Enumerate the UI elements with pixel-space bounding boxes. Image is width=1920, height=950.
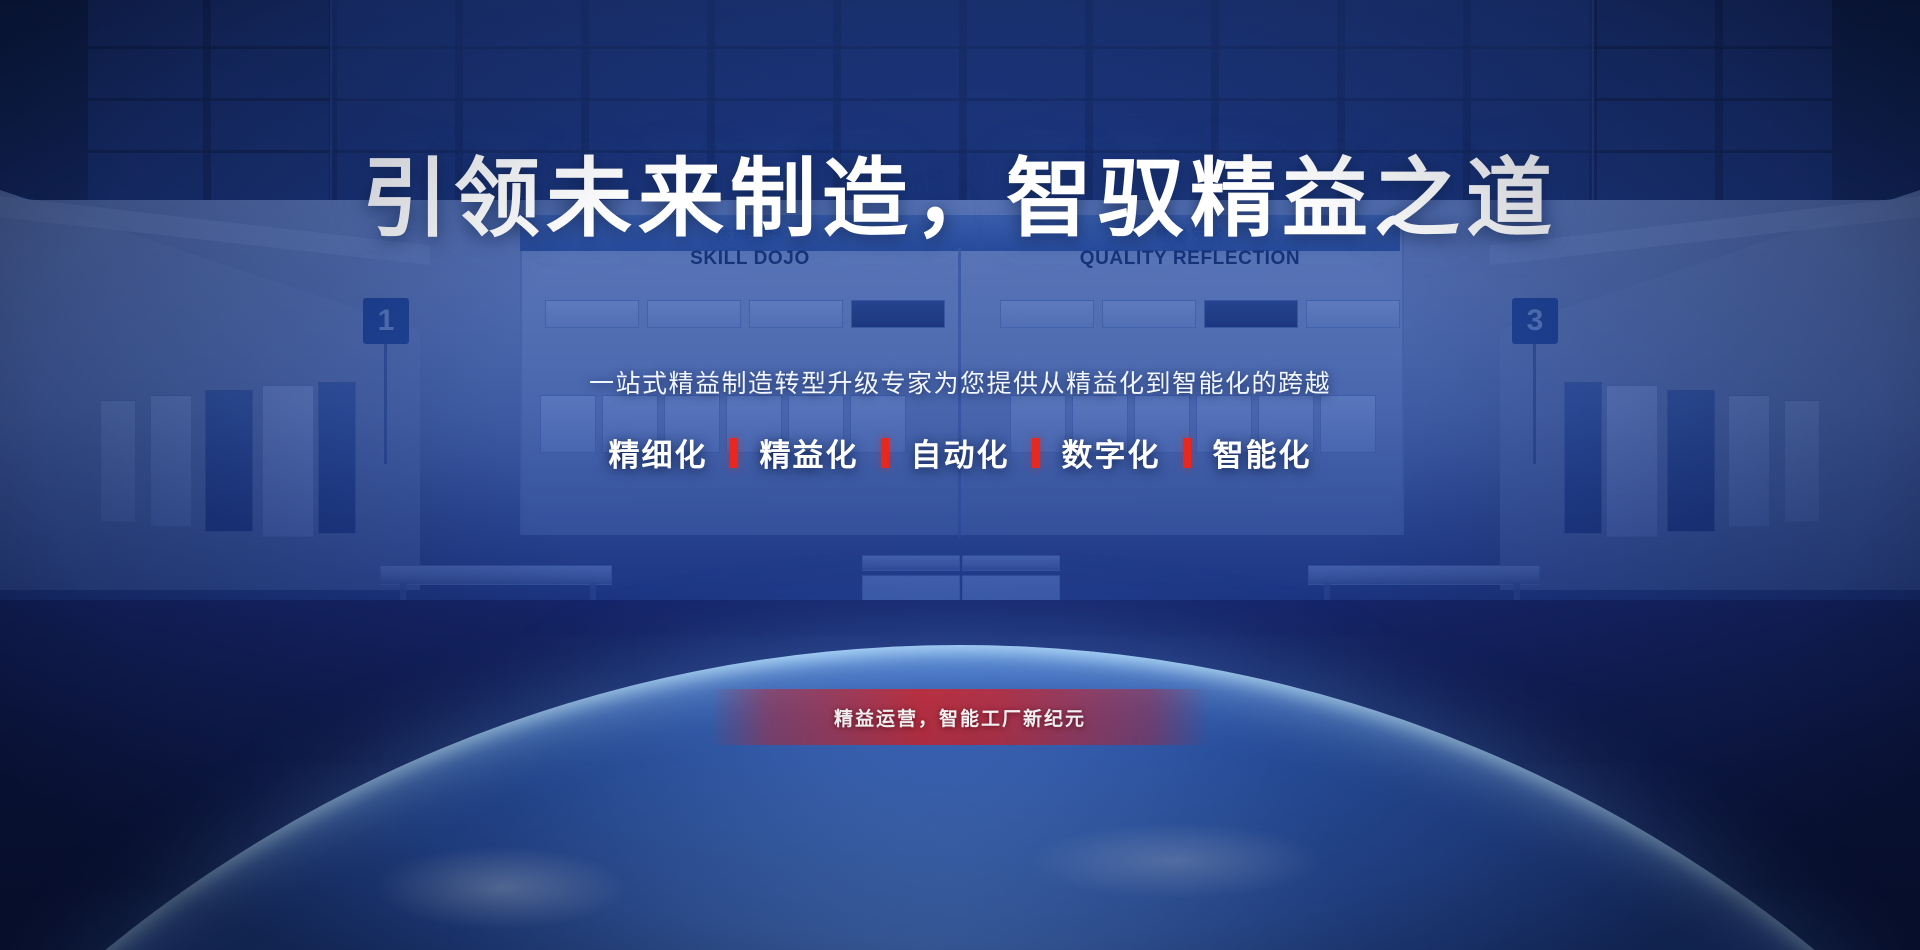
hero-subtitle: 一站式精益制造转型升级专家为您提供从精益化到智能化的跨越 bbox=[0, 364, 1920, 400]
keyword-item: 自动化 bbox=[911, 430, 1010, 475]
keyword-item: 智能化 bbox=[1213, 430, 1312, 475]
blue-tint-overlay-2 bbox=[0, 0, 1920, 660]
page-title: 引领未来制造，智驭精益之道 bbox=[0, 128, 1920, 253]
tagline-ribbon: 精益运营，智能工厂新纪元 bbox=[710, 689, 1210, 745]
keyword-separator-icon bbox=[1032, 438, 1040, 468]
keyword-separator-icon bbox=[730, 438, 738, 468]
keyword-list: 精细化 精益化 自动化 数字化 智能化 bbox=[0, 430, 1920, 475]
keyword-separator-icon bbox=[1183, 438, 1191, 468]
keyword-item: 数字化 bbox=[1062, 430, 1161, 475]
tagline-text: 精益运营，智能工厂新纪元 bbox=[834, 704, 1086, 731]
keyword-separator-icon bbox=[881, 438, 889, 468]
hero-banner: 技能道场 SKILL DOJO 质量反省 QUALITY REFLECTION bbox=[0, 0, 1920, 950]
keyword-item: 精益化 bbox=[760, 430, 859, 475]
keyword-item: 精细化 bbox=[609, 430, 708, 475]
